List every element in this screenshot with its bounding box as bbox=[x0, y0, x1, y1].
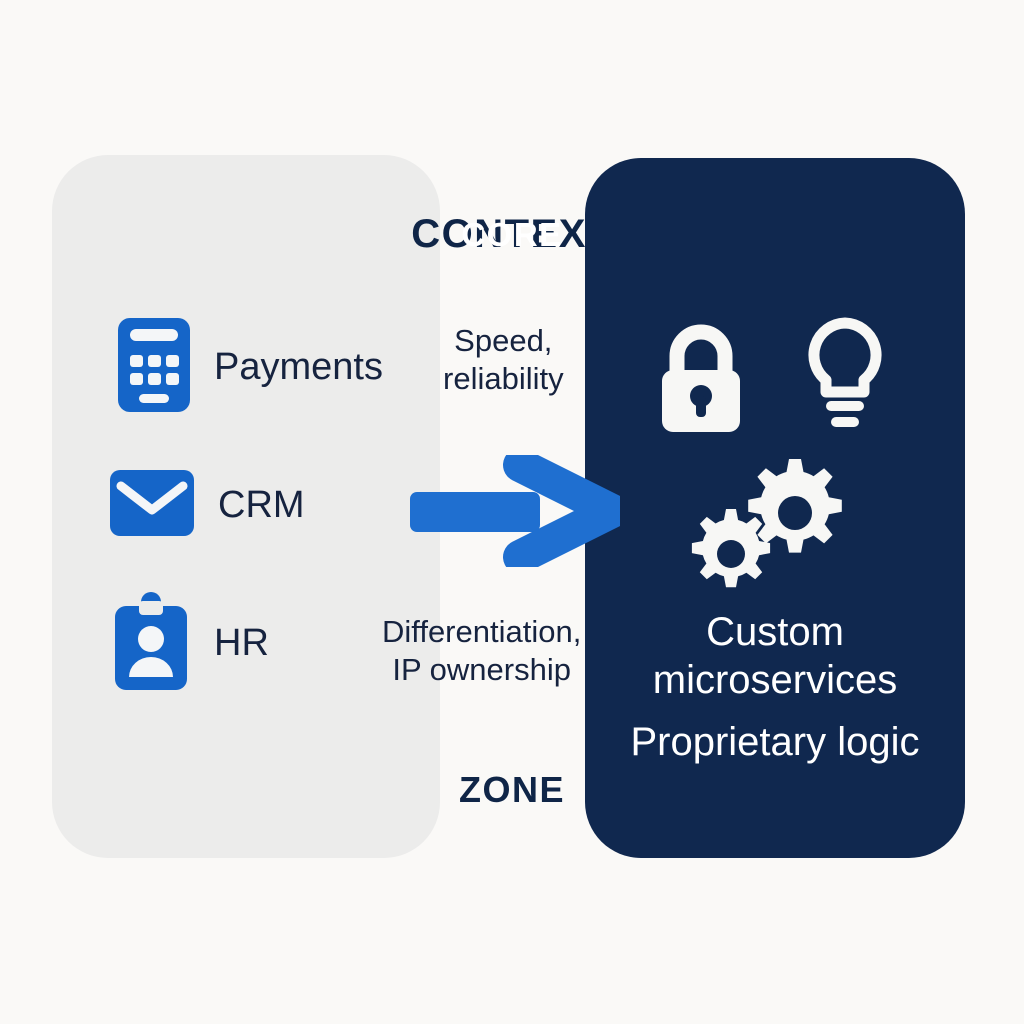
service-row-crm[interactable]: CRM bbox=[110, 470, 305, 541]
lightbulb-icon bbox=[797, 313, 893, 440]
flow-caption-speed-line-2: reliability bbox=[443, 360, 564, 398]
core-icon-cluster bbox=[585, 305, 965, 595]
flow-caption-diff-line-1: Differentiation, bbox=[382, 613, 581, 651]
service-row-hr[interactable]: HR bbox=[112, 592, 269, 695]
core-panel-title: CORE bbox=[0, 216, 1024, 254]
lock-icon bbox=[653, 320, 749, 441]
flow-caption-diff-line-2: IP ownership bbox=[382, 651, 581, 689]
core-line-1: Custom bbox=[585, 608, 965, 656]
flow-caption-speed: Speed, reliability bbox=[443, 322, 564, 398]
diagram-canvas: CONTEXT Payments CRM bbox=[0, 0, 1024, 1024]
service-row-payments[interactable]: Payments bbox=[118, 318, 383, 417]
service-label-payments: Payments bbox=[214, 346, 383, 389]
service-label-crm: CRM bbox=[218, 484, 305, 527]
core-line-2: microservices bbox=[585, 656, 965, 704]
core-description: Custom microservices Proprietary logic bbox=[585, 608, 965, 766]
service-label-hr: HR bbox=[214, 622, 269, 665]
flow-caption-speed-line-1: Speed, bbox=[443, 322, 564, 360]
envelope-icon bbox=[110, 470, 194, 541]
core-line-3: Proprietary logic bbox=[585, 718, 965, 766]
flow-caption-differentiation: Differentiation, IP ownership bbox=[382, 613, 581, 689]
gears-icon bbox=[685, 453, 845, 598]
id-badge-icon bbox=[112, 592, 190, 695]
right-arrow-icon bbox=[408, 455, 620, 567]
calculator-icon bbox=[118, 318, 190, 417]
